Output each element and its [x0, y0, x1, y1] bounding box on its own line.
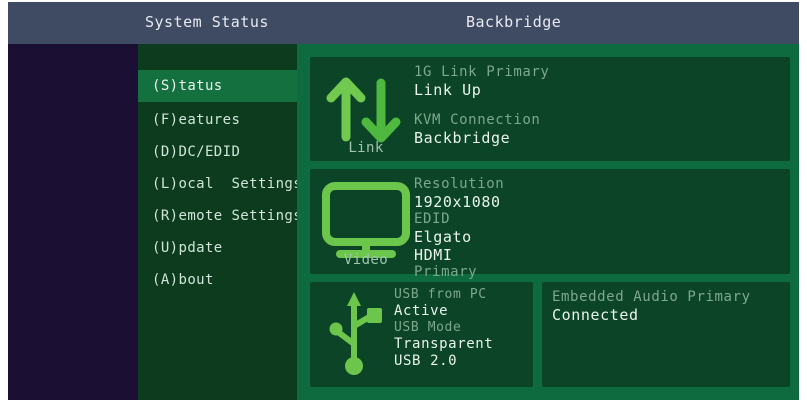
link-text-gap — [414, 99, 774, 112]
video-interface-value: HDMI — [414, 246, 774, 264]
page-title: System Status — [145, 13, 269, 31]
embedded-audio-value: Connected — [552, 306, 792, 324]
video-primary-label: Primary — [414, 264, 774, 281]
usb-trident-icon — [314, 286, 394, 382]
menu-item-about[interactable]: (A)bout — [138, 264, 297, 296]
kvm-connection-label: KVM Connection — [414, 112, 774, 129]
link-text-column: 1G Link Primary Link Up KVM Connection B… — [414, 64, 774, 147]
body-area: (S)tatus (F)eatures (D)DC/EDID (L)ocal S… — [8, 44, 799, 400]
navigation-menu[interactable]: (S)tatus (F)eatures (D)DC/EDID (L)ocal S… — [138, 44, 297, 400]
menu-item-status[interactable]: (S)tatus — [138, 70, 297, 102]
video-status-card: Video Resolution 1920x1080 EDID Elgato H… — [310, 169, 790, 274]
usb-text-column: USB from PC Active USB Mode Transparent … — [394, 287, 534, 370]
menu-item-ddc-edid[interactable]: (D)DC/EDID — [138, 136, 297, 168]
video-icon-label: Video — [318, 252, 414, 268]
usb-status-card: USB from PC Active USB Mode Transparent … — [310, 282, 533, 387]
title-bar: System Status Backbridge — [8, 2, 799, 44]
link-status-card: Link 1G Link Primary Link Up KVM Connect… — [310, 57, 790, 161]
menu-item-remote-settings[interactable]: (R)emote Settings — [138, 200, 297, 232]
usb-version-value: USB 2.0 — [394, 353, 534, 370]
monitor-icon: Video — [318, 173, 414, 269]
audio-status-card: Embedded Audio Primary Connected — [542, 282, 790, 387]
resolution-label: Resolution — [414, 176, 774, 193]
edid-value: Elgato — [414, 228, 774, 246]
connection-title: Backbridge — [466, 13, 561, 31]
status-content: Link 1G Link Primary Link Up KVM Connect… — [297, 44, 799, 400]
usb-mode-value: Transparent — [394, 336, 534, 353]
usb-from-pc-label: USB from PC — [394, 287, 534, 303]
edid-label: EDID — [414, 211, 774, 228]
embedded-audio-label: Embedded Audio Primary — [552, 289, 792, 306]
link-primary-value: Link Up — [414, 81, 774, 99]
menu-item-update[interactable]: (U)pdate — [138, 232, 297, 264]
video-text-column: Resolution 1920x1080 EDID Elgato HDMI Pr… — [414, 176, 774, 281]
link-primary-label: 1G Link Primary — [414, 64, 774, 81]
usb-mode-label: USB Mode — [394, 320, 534, 336]
kvm-connection-value: Backbridge — [414, 129, 774, 147]
menu-item-local-settings[interactable]: (L)ocal Settings — [138, 168, 297, 200]
menu-item-features[interactable]: (F)eatures — [138, 104, 297, 136]
osd-screen: System Status Backbridge (S)tatus (F)eat… — [0, 0, 807, 402]
audio-text-column: Embedded Audio Primary Connected — [552, 289, 792, 324]
resolution-value: 1920x1080 — [414, 193, 774, 211]
link-up-down-arrows-icon: Link — [318, 61, 414, 157]
usb-from-pc-value: Active — [394, 303, 534, 320]
left-blank-column — [8, 44, 138, 400]
link-icon-label: Link — [318, 140, 414, 156]
